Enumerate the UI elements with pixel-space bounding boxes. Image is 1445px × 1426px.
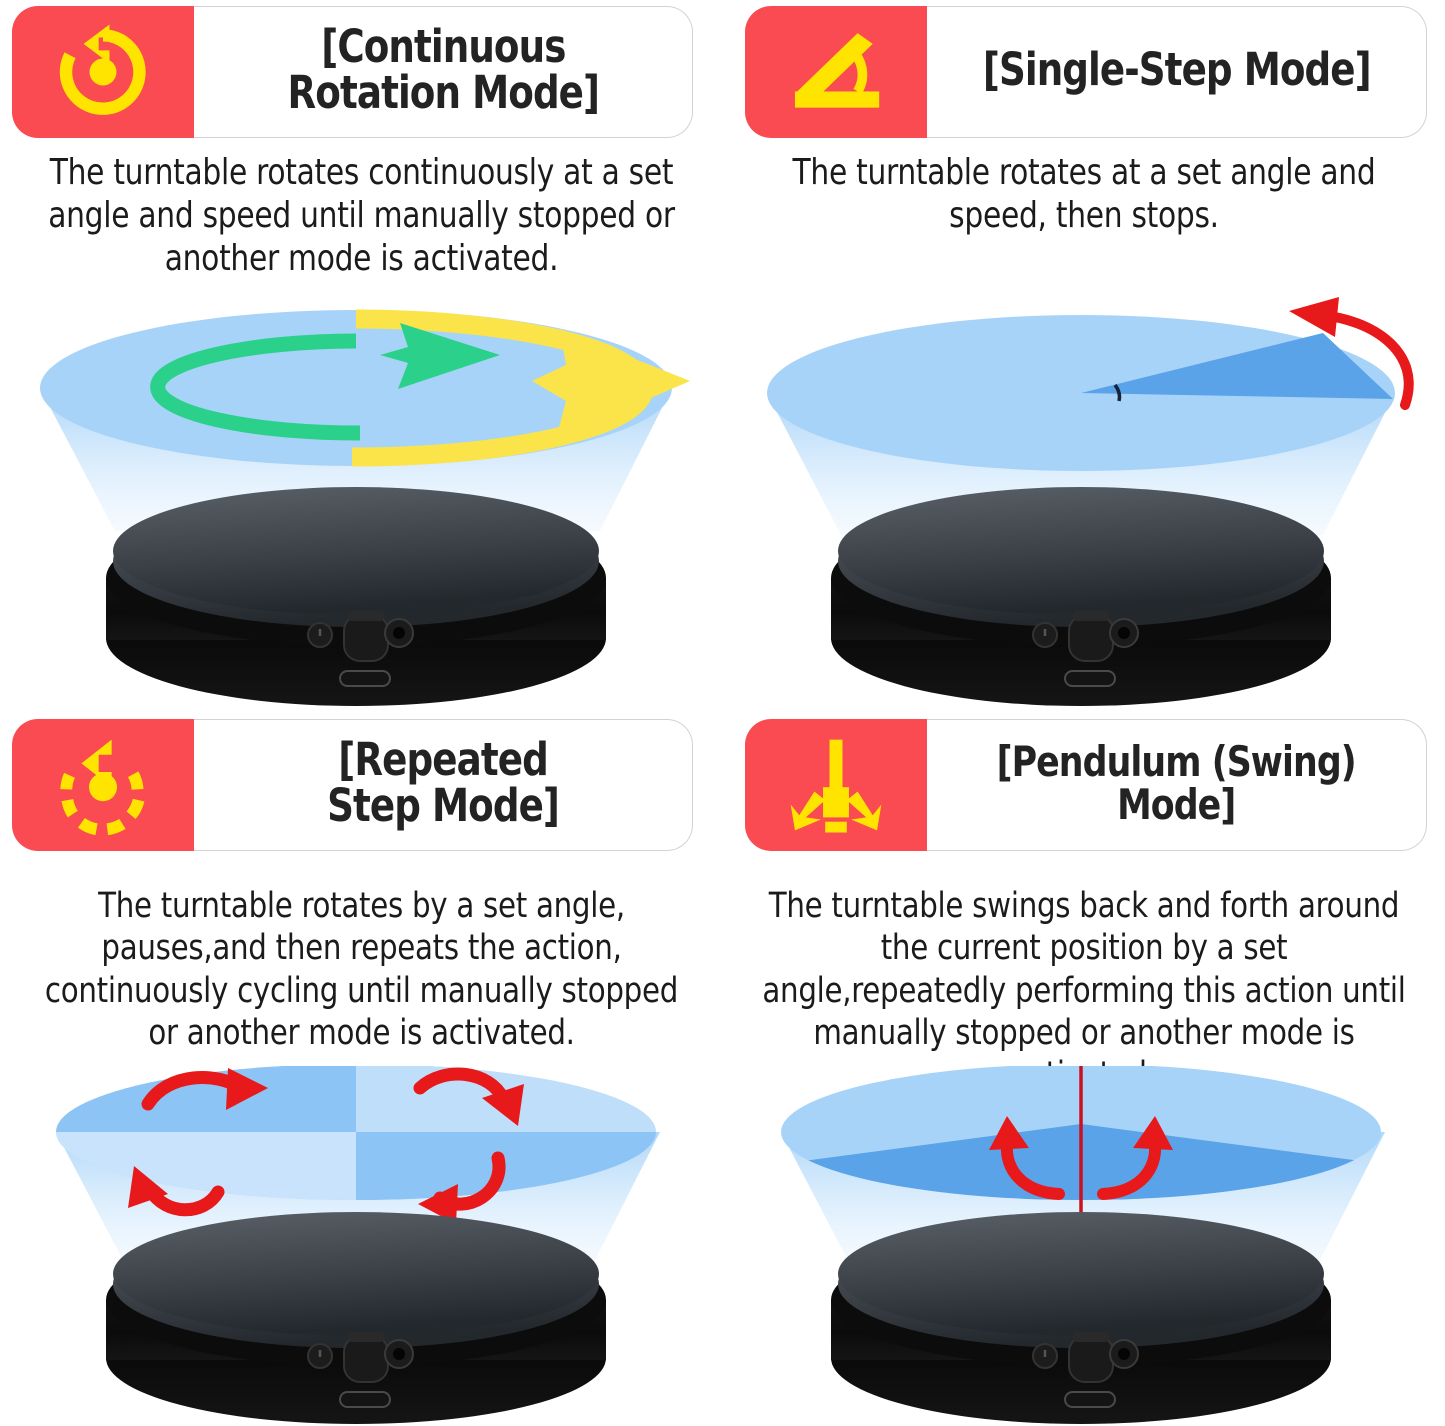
panel-header-pendulum-swing: [Pendulum (Swing) Mode] (745, 719, 1427, 851)
header-title-wrap-single-step: [Single-Step Mode] (927, 6, 1427, 138)
illustration-single-step (723, 293, 1445, 713)
panel-header-repeated-step: [Repeated Step Mode] (12, 719, 693, 851)
panel-header-continuous-rotation: [Continuous Rotation Mode] (12, 6, 693, 138)
usb-c-port (1065, 671, 1115, 686)
header-badge-repeated-step (12, 719, 194, 851)
turntable-device (106, 1212, 606, 1424)
turntable-continuous-svg (0, 293, 723, 713)
panel-title-line1: [Pendulum (Swing) (997, 740, 1356, 783)
panel-title-line1: [Repeated (327, 737, 559, 783)
panel-description-pendulum-swing: The turntable swings back and forth arou… (756, 885, 1413, 1097)
speed-knob (344, 615, 388, 661)
panel-title-single-step: [Single-Step Mode] (983, 47, 1371, 93)
header-title-wrap-continuous-rotation: [Continuous Rotation Mode] (194, 6, 693, 138)
panel-title-repeated-step: [Repeated Step Mode] (327, 737, 559, 830)
panel-header-single-step: [Single-Step Mode] (745, 6, 1427, 138)
panel-description-continuous-rotation: The turntable rotates continuously at a … (33, 152, 691, 281)
illustration-continuous-rotation (0, 293, 723, 713)
panel-title-line1: [Continuous (287, 24, 599, 70)
angle-measure-icon (777, 18, 895, 126)
turntable-device (831, 487, 1331, 706)
illustration-repeated-step (0, 1066, 723, 1426)
panel-description-single-step: The turntable rotates at a set angle and… (756, 152, 1413, 238)
turntable-single-step-svg (723, 293, 1445, 713)
panel-title-line2: Mode] (997, 783, 1356, 826)
usb-c-port (340, 671, 390, 686)
panel-title-pendulum-swing: [Pendulum (Swing) Mode] (997, 740, 1356, 827)
circular-arrow-icon (44, 18, 162, 126)
turntable-pendulum-svg (723, 1066, 1445, 1426)
speed-knob (1069, 615, 1113, 661)
turntable-repeated-step-svg (0, 1066, 723, 1426)
panel-repeated-step: [Repeated Step Mode] The turntable rotat… (0, 713, 723, 1426)
usb-c-port (1065, 1392, 1115, 1407)
panel-title-line2: Step Mode] (327, 783, 559, 829)
panel-continuous-rotation: [Continuous Rotation Mode] The turntable… (0, 0, 723, 713)
speed-knob (344, 1336, 388, 1382)
illustration-pendulum-swing (723, 1066, 1445, 1426)
panel-pendulum-swing: [Pendulum (Swing) Mode] The turntable sw… (723, 713, 1445, 1426)
header-title-wrap-pendulum-swing: [Pendulum (Swing) Mode] (927, 719, 1427, 851)
header-title-wrap-repeated-step: [Repeated Step Mode] (194, 719, 693, 851)
turntable-device (831, 1212, 1331, 1424)
turntable-device (106, 487, 606, 706)
usb-c-port (340, 1392, 390, 1407)
panel-title-line2: Rotation Mode] (287, 70, 599, 116)
dashed-circular-arrow-icon (44, 731, 162, 839)
header-badge-single-step (745, 6, 927, 138)
panel-single-step: [Single-Step Mode] The turntable rotates… (723, 0, 1445, 713)
panel-description-repeated-step: The turntable rotates by a set angle, pa… (33, 885, 691, 1054)
mode-panels-grid: [Continuous Rotation Mode] The turntable… (0, 0, 1445, 1426)
panel-title-continuous-rotation: [Continuous Rotation Mode] (287, 24, 599, 117)
pendulum-swing-icon (777, 731, 895, 839)
speed-knob (1069, 1336, 1113, 1382)
header-badge-pendulum-swing (745, 719, 927, 851)
header-badge-continuous-rotation (12, 6, 194, 138)
